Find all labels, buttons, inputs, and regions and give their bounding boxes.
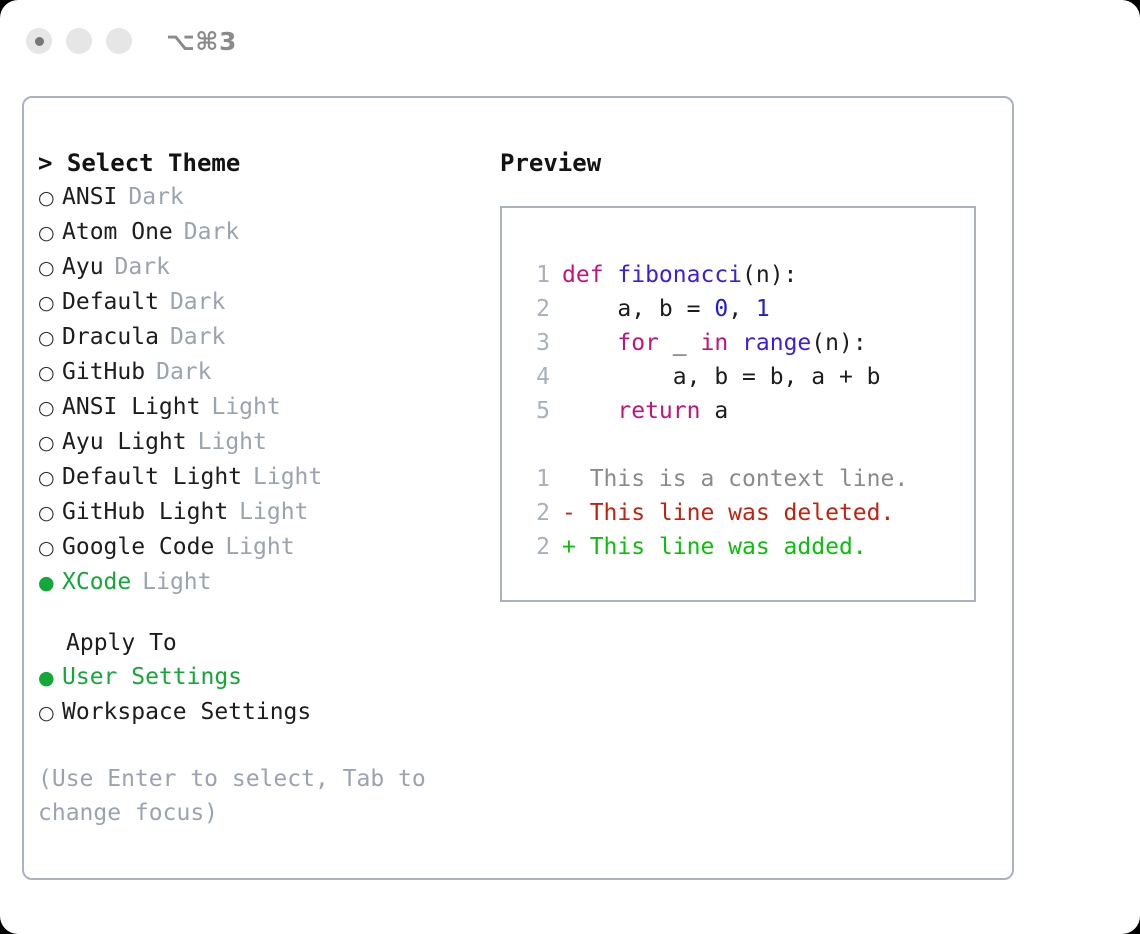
- keyboard-shortcut-label: ⌥⌘3: [166, 27, 237, 56]
- code-line-number: 5: [520, 394, 550, 428]
- preview-title: Preview: [500, 146, 1000, 180]
- apply-to-option-label: User Settings: [62, 660, 242, 694]
- diff-line-del: 2- This line was deleted.: [520, 496, 974, 530]
- code-token-fn: range: [742, 330, 811, 356]
- code-line-content: a, b = 0, 1: [562, 292, 770, 326]
- window-controls: [26, 28, 132, 54]
- theme-option-dracula[interactable]: ○DraculaDark: [38, 320, 478, 355]
- radio-selected-icon: ●: [38, 661, 62, 695]
- diff-line-text: This is a context line.: [562, 462, 908, 496]
- code-line-number: 2: [520, 292, 550, 326]
- theme-option-default[interactable]: ○DefaultDark: [38, 285, 478, 320]
- theme-option-kind: Light: [198, 425, 267, 459]
- radio-unselected-icon: ○: [38, 181, 62, 215]
- code-token-num: 0: [714, 296, 728, 322]
- code-line-number: 1: [520, 258, 550, 292]
- theme-option-name: GitHub: [62, 355, 145, 389]
- theme-option-name: Dracula: [62, 320, 159, 354]
- theme-option-name: Default Light: [62, 460, 242, 494]
- theme-option-name: XCode: [62, 565, 131, 599]
- radio-unselected-icon: ○: [38, 356, 62, 390]
- theme-option-name: Default: [62, 285, 159, 319]
- theme-option-ayu-light[interactable]: ○Ayu LightLight: [38, 425, 478, 460]
- diff-sample: 1 This is a context line.2- This line wa…: [520, 462, 974, 564]
- code-line-number: 3: [520, 326, 550, 360]
- apply-to-option-user-settings[interactable]: ●User Settings: [38, 660, 478, 695]
- apply-to-options: ●User Settings○Workspace Settings: [38, 660, 478, 730]
- diff-line-text: - This line was deleted.: [562, 496, 894, 530]
- window-dot-inner: [35, 37, 44, 46]
- code-token-plain: [728, 330, 742, 356]
- title-bar: ⌥⌘3: [0, 0, 1140, 82]
- theme-list-header: > Select Theme: [38, 146, 478, 180]
- code-line-content: def fibonacci(n):: [562, 258, 797, 292]
- code-spacer: [520, 428, 974, 462]
- theme-option-kind: Dark: [170, 285, 225, 319]
- theme-option-kind: Light: [211, 390, 280, 424]
- theme-option-ansi[interactable]: ○ANSIDark: [38, 180, 478, 215]
- code-token-kw: in: [700, 330, 728, 356]
- theme-option-default-light[interactable]: ○Default LightLight: [38, 460, 478, 495]
- theme-option-name: Ayu: [62, 250, 104, 284]
- apply-to-option-label: Workspace Settings: [62, 695, 311, 729]
- code-line: 2 a, b = 0, 1: [520, 292, 974, 326]
- code-token-plain: _: [659, 330, 701, 356]
- theme-list: ○ANSIDark○Atom OneDark○AyuDark○DefaultDa…: [38, 180, 478, 600]
- preview-box: 1def fibonacci(n):2 a, b = 0, 13 for _ i…: [500, 206, 976, 602]
- code-token-plain: a, b =: [562, 296, 714, 322]
- apply-to-header: Apply To: [38, 626, 478, 660]
- code-line-content: return a: [562, 394, 728, 428]
- theme-option-name: Ayu Light: [62, 425, 187, 459]
- code-line: 4 a, b = b, a + b: [520, 360, 974, 394]
- theme-option-kind: Light: [225, 530, 294, 564]
- code-line: 3 for _ in range(n):: [520, 326, 974, 360]
- theme-option-github[interactable]: ○GitHubDark: [38, 355, 478, 390]
- window-dot-third-icon[interactable]: [106, 28, 132, 54]
- code-line-content: a, b = b, a + b: [562, 360, 881, 394]
- theme-option-xcode[interactable]: ●XCodeLight: [38, 565, 478, 600]
- radio-unselected-icon: ○: [38, 426, 62, 460]
- theme-option-name: GitHub Light: [62, 495, 228, 529]
- theme-option-google-code[interactable]: ○Google CodeLight: [38, 530, 478, 565]
- code-token-kw: for: [562, 330, 659, 356]
- window-dot-second-icon[interactable]: [66, 28, 92, 54]
- theme-option-kind: Light: [239, 495, 308, 529]
- theme-option-name: Google Code: [62, 530, 214, 564]
- theme-option-kind: Dark: [170, 320, 225, 354]
- code-token-plain: a: [700, 398, 728, 424]
- theme-option-name: Atom One: [62, 215, 173, 249]
- theme-option-name: ANSI Light: [62, 390, 200, 424]
- diff-line-add: 2+ This line was added.: [520, 530, 974, 564]
- code-token-kw: return: [562, 398, 700, 424]
- code-token-plain: (n):: [811, 330, 866, 356]
- radio-unselected-icon: ○: [38, 321, 62, 355]
- apply-to-section: Apply To ●User Settings○Workspace Settin…: [38, 626, 478, 730]
- code-token-num: 1: [756, 296, 770, 322]
- app-window: ⌥⌘3 > Select Theme ○ANSIDark○Atom OneDar…: [0, 0, 1140, 934]
- theme-option-github-light[interactable]: ○GitHub LightLight: [38, 495, 478, 530]
- radio-unselected-icon: ○: [38, 251, 62, 285]
- apply-to-option-workspace-settings[interactable]: ○Workspace Settings: [38, 695, 478, 730]
- theme-option-kind: Light: [253, 460, 322, 494]
- main-panel: > Select Theme ○ANSIDark○Atom OneDark○Ay…: [22, 96, 1014, 880]
- window-dot-active-icon[interactable]: [26, 28, 52, 54]
- radio-unselected-icon: ○: [38, 286, 62, 320]
- code-token-plain: ,: [728, 296, 756, 322]
- diff-line-number: 2: [520, 530, 550, 564]
- theme-option-atom-one[interactable]: ○Atom OneDark: [38, 215, 478, 250]
- theme-option-name: ANSI: [62, 180, 117, 214]
- theme-option-kind: Dark: [184, 215, 239, 249]
- theme-list-column: > Select Theme ○ANSIDark○Atom OneDark○Ay…: [38, 146, 478, 600]
- theme-option-ayu[interactable]: ○AyuDark: [38, 250, 478, 285]
- code-token-kw: def: [562, 262, 617, 288]
- code-sample: 1def fibonacci(n):2 a, b = 0, 13 for _ i…: [520, 258, 974, 428]
- diff-line-number: 2: [520, 496, 550, 530]
- code-line-number: 4: [520, 360, 550, 394]
- keyboard-hint-line1: (Use Enter to select, Tab to: [38, 762, 448, 796]
- code-token-plain: (n):: [742, 262, 797, 288]
- theme-option-kind: Dark: [156, 355, 211, 389]
- radio-unselected-icon: ○: [38, 531, 62, 565]
- diff-line-ctx: 1 This is a context line.: [520, 462, 974, 496]
- radio-selected-icon: ●: [38, 566, 62, 600]
- code-line: 1def fibonacci(n):: [520, 258, 974, 292]
- code-token-fn: fibonacci: [617, 262, 742, 288]
- preview-column: Preview 1def fibonacci(n):2 a, b = 0, 13…: [500, 146, 1000, 602]
- radio-unselected-icon: ○: [38, 391, 62, 425]
- code-line-content: for _ in range(n):: [562, 326, 867, 360]
- keyboard-hint: (Use Enter to select, Tab to change focu…: [38, 762, 448, 830]
- radio-unselected-icon: ○: [38, 696, 62, 730]
- code-token-plain: a, b = b, a + b: [562, 364, 881, 390]
- code-line: 5 return a: [520, 394, 974, 428]
- diff-line-number: 1: [520, 462, 550, 496]
- keyboard-hint-line2: change focus): [38, 796, 448, 830]
- diff-line-text: + This line was added.: [562, 530, 867, 564]
- theme-option-kind: Light: [142, 565, 211, 599]
- radio-unselected-icon: ○: [38, 461, 62, 495]
- theme-option-kind: Dark: [128, 180, 183, 214]
- theme-option-ansi-light[interactable]: ○ANSI LightLight: [38, 390, 478, 425]
- theme-option-kind: Dark: [115, 250, 170, 284]
- radio-unselected-icon: ○: [38, 496, 62, 530]
- radio-unselected-icon: ○: [38, 216, 62, 250]
